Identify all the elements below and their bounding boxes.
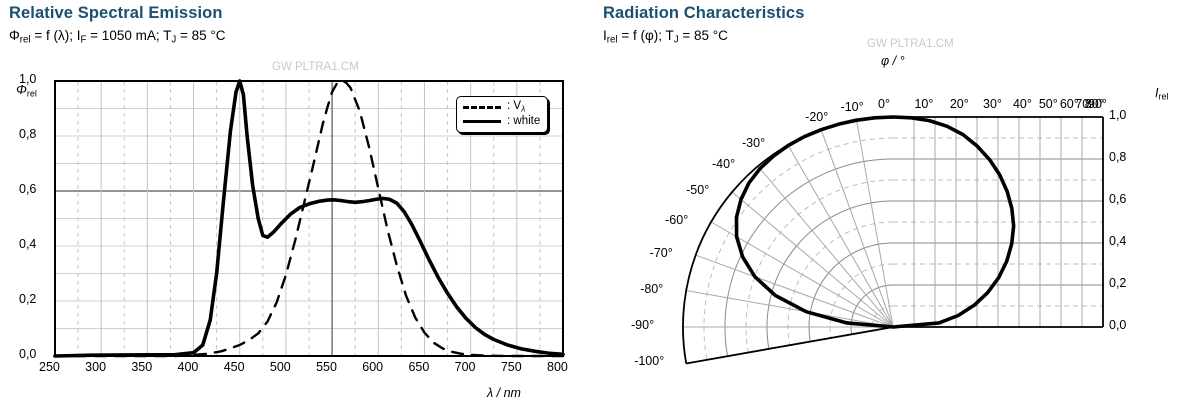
- radiation-radial-tick-0: 0,0: [1109, 318, 1126, 332]
- radiation-radial-tick-4: 0,8: [1109, 150, 1126, 164]
- spectral-y-tick-2: 0,4: [19, 237, 36, 251]
- radiation-left-tick-0: -30°: [742, 136, 765, 150]
- radiation-top-tick-11: 90°: [1088, 97, 1107, 111]
- spectral-x-tick-2: 350: [131, 360, 152, 374]
- radiation-left-tick-1: -40°: [712, 157, 735, 171]
- spectral-x-tick-10: 750: [501, 360, 522, 374]
- radiation-radial-tick-5: 1,0: [1109, 108, 1126, 122]
- spectral-y-tick-3: 0,6: [19, 182, 36, 196]
- legend-row-vlambda: : Vλ: [463, 100, 540, 114]
- spectral-x-tick-4: 450: [224, 360, 245, 374]
- spectral-x-tick-1: 300: [85, 360, 106, 374]
- radiation-top-tick-3: 10°: [914, 97, 933, 111]
- spectral-y-tick-5: 1,0: [19, 72, 36, 86]
- spectral-x-tick-11: 800: [547, 360, 568, 374]
- radiation-left-tick-6: -90°: [631, 318, 654, 332]
- spectral-x-tick-5: 500: [270, 360, 291, 374]
- spectral-emission-chart-panel: Relative Spectral Emission Φrel = f (λ);…: [0, 0, 600, 409]
- radiation-top-tick-7: 50°: [1039, 97, 1058, 111]
- radiation-left-tick-3: -60°: [665, 213, 688, 227]
- spectral-x-tick-8: 650: [408, 360, 429, 374]
- legend-dashed-line-swatch: [463, 106, 501, 109]
- spectral-x-tick-6: 550: [316, 360, 337, 374]
- spectral-x-tick-7: 600: [362, 360, 383, 374]
- spectral-legend: : Vλ : white: [456, 96, 548, 133]
- legend-row-white: : white: [463, 114, 540, 128]
- spectral-plot-svg: [0, 0, 600, 409]
- radiation-left-tick-2: -50°: [686, 183, 709, 197]
- radiation-characteristics-chart-panel: Radiation Characteristics Irel = f (φ); …: [600, 0, 1199, 409]
- radiation-left-tick-5: -80°: [640, 282, 663, 296]
- radiation-top-tick-6: 40°: [1013, 97, 1032, 111]
- radiation-top-tick-2: 0°: [878, 97, 890, 111]
- radiation-top-tick-1: -10°: [841, 100, 864, 114]
- radiation-left-tick-7: -100°: [634, 354, 664, 368]
- legend-vlambda-text: : V: [507, 100, 521, 112]
- spectral-x-tick-9: 700: [455, 360, 476, 374]
- spectral-y-tick-0: 0,0: [19, 347, 36, 361]
- radiation-top-tick-4: 20°: [950, 97, 969, 111]
- legend-solid-line-swatch: [463, 120, 501, 123]
- legend-label-vlambda: : Vλ: [507, 100, 525, 113]
- spectral-y-tick-1: 0,2: [19, 292, 36, 306]
- radiation-top-tick-5: 30°: [983, 97, 1002, 111]
- legend-vlambda-sub: λ: [521, 105, 525, 114]
- radiation-radial-tick-1: 0,2: [1109, 276, 1126, 290]
- spectral-y-tick-4: 0,8: [19, 127, 36, 141]
- spectral-x-tick-0: 250: [39, 360, 60, 374]
- radiation-left-tick-4: -70°: [650, 246, 673, 260]
- legend-label-white: : white: [507, 115, 540, 127]
- spectral-x-tick-3: 400: [178, 360, 199, 374]
- radiation-radial-tick-2: 0,4: [1109, 234, 1126, 248]
- radiation-top-tick-0: -20°: [805, 110, 828, 124]
- radiation-radial-tick-3: 0,6: [1109, 192, 1126, 206]
